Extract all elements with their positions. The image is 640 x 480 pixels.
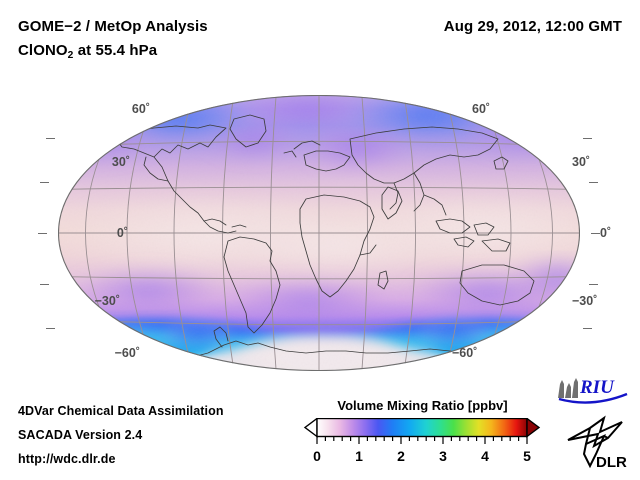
colorbar-tick-label-2: 2	[391, 448, 411, 464]
lat-label-right-30: 30˚	[572, 155, 590, 169]
lat-tick-left-m30	[40, 284, 49, 285]
dlr-wordmark: DLR	[596, 454, 627, 470]
lat-label-left-60: 60˚	[100, 102, 150, 116]
species-suffix: at 55.4 hPa	[73, 42, 157, 59]
lat-label-right-0: 0˚	[600, 226, 611, 240]
lat-tick-left-m60	[46, 328, 55, 329]
colorbar-tick-label-3: 3	[433, 448, 453, 464]
lat-label-right-m60: −60˚	[452, 346, 477, 360]
lat-label-left-m60: −60˚	[82, 346, 140, 360]
lat-tick-left-30	[40, 182, 49, 183]
footer-url-link[interactable]: http://wdc.dlr.de	[18, 452, 116, 466]
lat-tick-right-m60	[583, 328, 592, 329]
colorbar-tick-label-4: 4	[475, 448, 495, 464]
lat-tick-left-0	[38, 233, 47, 234]
lat-label-left-30: 30˚	[80, 155, 130, 169]
lat-tick-right-m30	[589, 284, 598, 285]
colorbar-ticks	[317, 437, 527, 445]
lat-tick-right-0	[591, 233, 600, 234]
global-map	[58, 95, 580, 371]
riu-wordmark: RIU	[579, 377, 615, 398]
colorbar-over-arrow	[527, 419, 539, 437]
lat-label-right-m30: −30˚	[572, 294, 597, 308]
lat-label-left-0: 0˚	[78, 226, 128, 240]
lat-label-left-m30: −30˚	[62, 294, 120, 308]
page-title: GOME−2 / MetOp Analysis	[18, 18, 208, 35]
riu-logo: RIU	[556, 374, 630, 406]
colorbar-under-arrow	[305, 419, 317, 437]
figure-root: GOME−2 / MetOp Analysis ClONO2 at 55.4 h…	[0, 0, 640, 480]
lat-tick-left-60	[46, 138, 55, 139]
species-subscript: 2	[68, 50, 74, 61]
dlr-logo: DLR	[560, 414, 630, 470]
riu-skyline-icon	[558, 378, 578, 398]
colorbar-tick-label-5: 5	[517, 448, 537, 464]
lat-tick-right-60	[583, 138, 592, 139]
timestamp-label: Aug 29, 2012, 12:00 GMT	[444, 18, 622, 35]
colorbar-title: Volume Mixing Ratio [ppbv]	[300, 398, 545, 413]
species-prefix: ClONO	[18, 42, 68, 59]
footer-version-label: SACADA Version 2.4	[18, 428, 142, 442]
lat-tick-right-30	[589, 182, 598, 183]
map-svg	[58, 95, 580, 371]
species-subtitle: ClONO2 at 55.4 hPa	[18, 42, 157, 59]
colorbar-gradient-bar	[317, 419, 527, 437]
footer-method-label: 4DVar Chemical Data Assimilation	[18, 404, 224, 418]
colorbar-tick-label-0: 0	[307, 448, 327, 464]
colorbar-tick-label-1: 1	[349, 448, 369, 464]
lat-label-right-60: 60˚	[472, 102, 490, 116]
colorbar: Volume Mixing Ratio [ppbv] 0 1 2 3 4 5	[300, 398, 545, 476]
colorbar-svg	[300, 418, 545, 448]
